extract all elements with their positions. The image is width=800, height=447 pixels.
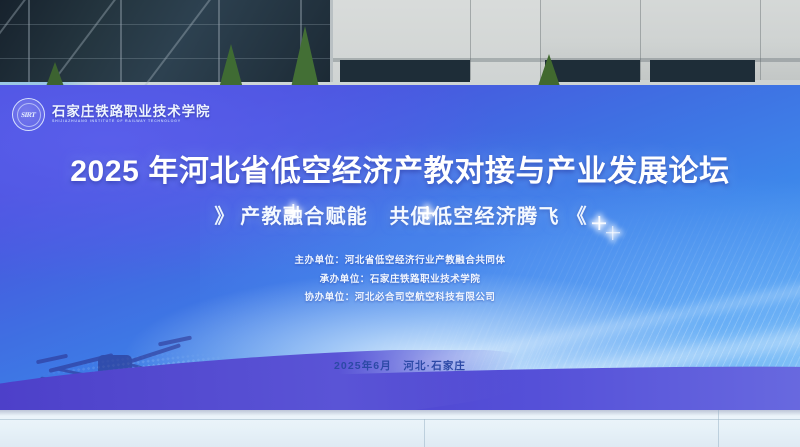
school-logo: SIRT 石家庄铁路职业技术学院 SHIJIAZHUANG INSTITUTE … [12,98,210,131]
subtitle-right-chevron: 《 [567,206,586,228]
organizer-coorganizer: 协办单位：河北必合司空航空科技有限公司 [0,293,800,303]
subtitle-text: 产教融合赋能 共促低空经济腾飞 [240,206,560,228]
building-environment [0,0,800,92]
forum-date-location: 2025年6月 河北·石家庄 [0,358,800,373]
facade-window-strip [650,60,755,82]
glass-transom [0,24,330,25]
screenshot-stage: SIRT 石家庄铁路职业技术学院 SHIJIAZHUANG INSTITUTE … [0,0,800,447]
floor-seam [424,419,425,447]
school-name-en: SHIJIAZHUANG INSTITUTE OF RAILWAY TECHNO… [52,120,210,124]
organizer-undertaker: 承办单位：石家庄铁路职业技术学院 [0,275,800,285]
organizer-host: 主办单位：河北省低空经济行业产教融合共同体 [0,256,800,266]
glass-reflection [135,0,227,92]
glass-mullion [28,0,30,82]
glass-mullion [120,0,122,82]
glass-reflection [0,0,42,92]
floor-seam [718,410,719,447]
facade-seam [640,0,641,80]
forum-title: 2025 年河北省低空经济产教对接与产业发展论坛 [0,156,800,188]
floor-shadow [0,410,800,416]
cypress-tree [290,26,320,92]
facade-window-strip [340,60,470,82]
facade-seam [470,0,471,80]
emblem-inner-ring: SIRT [17,103,41,127]
floor-seam [0,419,800,420]
ground-floor [0,410,800,447]
emblem-monogram: SIRT [20,111,36,119]
forum-subtitle: 》 产教融合赋能 共促低空经济腾飞 《 [0,206,800,228]
facade-seam [760,0,761,80]
school-logo-text: 石家庄铁路职业技术学院 SHIJIAZHUANG INSTITUTE OF RA… [52,105,210,123]
subtitle-left-chevron: 》 [214,206,233,228]
organizer-list: 主办单位：河北省低空经济行业产教融合共同体 承办单位：石家庄铁路职业技术学院 协… [0,256,800,312]
school-name-cn: 石家庄铁路职业技术学院 [52,105,210,119]
school-emblem-icon: SIRT [12,98,45,131]
